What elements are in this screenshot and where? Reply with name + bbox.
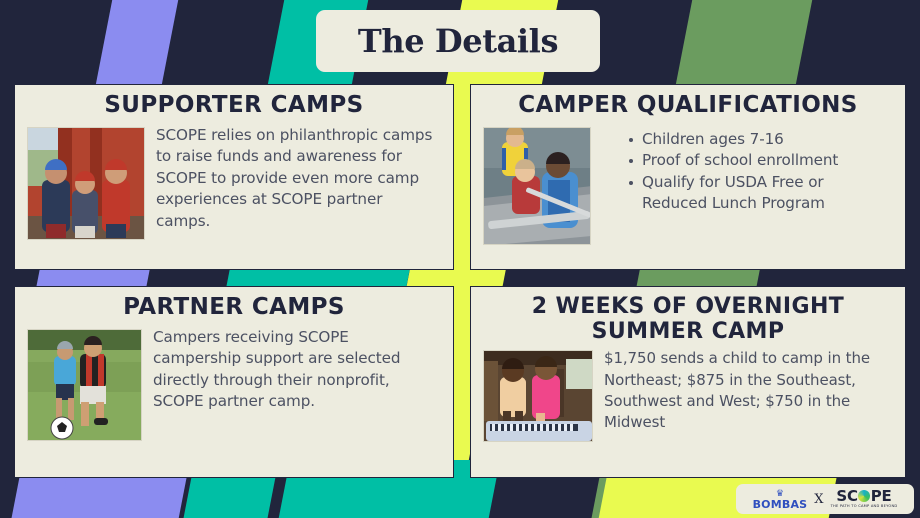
card-partner-camps: PARTNER CAMPS	[14, 286, 454, 478]
photo-partner-camps	[27, 329, 142, 441]
scope-wordmark: SC PE	[836, 489, 891, 504]
slide-canvas: The Details SUPPORTER CAMPS	[0, 0, 920, 518]
photo-overnight-summer-camp	[483, 350, 593, 442]
qualifications-list: Children ages 7-16 Proof of school enrol…	[602, 125, 893, 215]
page-title-plaque: The Details	[316, 10, 600, 72]
scope-gradient-o-icon	[858, 490, 870, 502]
photo-supporter-camps	[27, 127, 145, 240]
bee-icon: ♛	[776, 489, 784, 498]
bombas-logo: ♛ BOMBAS	[753, 489, 808, 510]
card-supporter-camps: SUPPORTER CAMPS	[14, 84, 454, 270]
card-title: PARTNER CAMPS	[27, 295, 441, 321]
photo-camper-qualifications	[483, 127, 591, 245]
list-item: Qualify for USDA Free or Reduced Lunch P…	[627, 172, 893, 215]
bombas-wordmark: BOMBAS	[753, 499, 808, 510]
card-title: 2 WEEKS OF OVERNIGHT SUMMER CAMP	[483, 295, 893, 344]
scope-tagline: THE PATH TO CAMP AND BEYOND	[831, 505, 898, 509]
card-title: SUPPORTER CAMPS	[27, 93, 441, 119]
page-title: The Details	[358, 25, 558, 57]
card-paragraph: Campers receiving SCOPE campership suppo…	[153, 327, 441, 413]
card-body: SCOPE relies on philanthropic camps to r…	[27, 125, 441, 259]
card-body: Campers receiving SCOPE campership suppo…	[27, 327, 441, 467]
list-item: Children ages 7-16	[627, 129, 893, 151]
logo-lockup: ♛ BOMBAS X SC PE THE PATH TO CAMP AND BE…	[736, 484, 914, 514]
card-body: $1,750 sends a child to camp in the Nort…	[483, 348, 893, 467]
scope-wordmark-left: SC	[836, 489, 857, 504]
scope-wordmark-right: PE	[871, 489, 892, 504]
card-overnight-summer-camp: 2 WEEKS OF OVERNIGHT SUMMER CAMP	[470, 286, 906, 478]
scope-logo: SC PE THE PATH TO CAMP AND BEYOND	[831, 489, 898, 509]
card-body: Children ages 7-16 Proof of school enrol…	[483, 125, 893, 259]
card-camper-qualifications: CAMPER QUALIFICATIONS	[470, 84, 906, 270]
card-paragraph: SCOPE relies on philanthropic camps to r…	[156, 125, 441, 233]
card-title: CAMPER QUALIFICATIONS	[483, 93, 893, 119]
card-paragraph: $1,750 sends a child to camp in the Nort…	[604, 348, 893, 433]
collab-connector: X	[814, 492, 823, 507]
list-item: Proof of school enrollment	[627, 150, 893, 172]
accent-cross-horizontal	[436, 270, 490, 286]
